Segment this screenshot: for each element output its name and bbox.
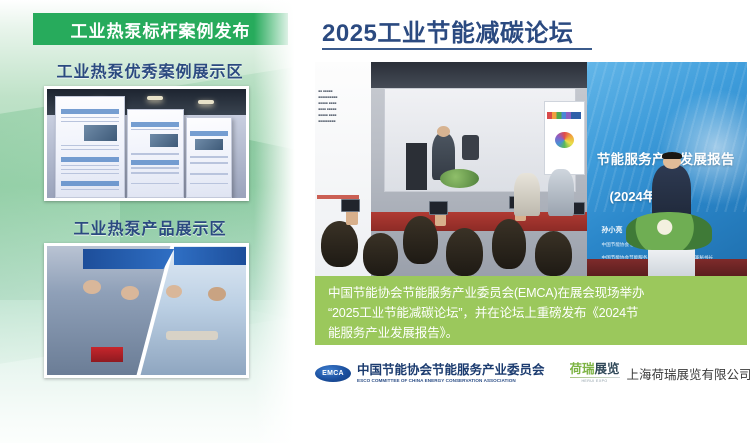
poster-color-bars [547,112,581,119]
emca-oval-icon: EMCA [315,365,351,382]
smartphone-icon [429,201,448,215]
seated-attendee [514,173,540,216]
footer-logos: EMCA 中国节能协会节能服务产业委员会 ESCO COMMITTEE OF C… [315,356,747,390]
podium-stand [648,246,696,276]
audience-head [363,233,397,276]
page-title: 2025工业节能减碳论坛 [322,13,573,48]
booth-red-signage [91,347,123,362]
right-panel: 2025工业节能减碳论坛 ■■ ■■■■■■■■■■■■■■■■■■■■ ■■■… [300,0,750,443]
herui-mark-block: 荷瑞展览 HERUI EXPO [570,362,620,384]
smartphone-icon [341,199,360,212]
audience-head [535,231,572,276]
audience-head [403,216,437,264]
audience-head [321,221,358,267]
left-panel-fade [254,0,300,443]
slide-canvas: 工业热泵标杆案例发布 工业热泵优秀案例展示区 [0,0,750,443]
herui-company-name: 上海荷瑞展览有限公司 [627,364,750,383]
emca-chinese-name: 中国节能协会节能服务产业委员会 [357,363,545,377]
herui-logo: 荷瑞展览 HERUI EXPO 上海荷瑞展览有限公司 [570,362,750,384]
visitor-head [83,280,101,294]
exhibition-poster-boards-photo [44,86,249,201]
poster-photo-inner [47,89,246,198]
emca-logo-text-block: 中国节能协会节能服务产业委员会 ESCO COMMITTEE OF CHINA … [357,363,545,384]
booth-banner [83,249,175,270]
booth-banner [174,247,246,265]
audience-head [446,228,483,276]
poster-board [55,96,125,198]
exhibition-booth-visitors-photo [44,243,249,378]
caption-box: 中国节能协会节能服务产业委员会(EMCA)在展会现场举办 “2025工业节能减碳… [315,276,747,345]
emca-english-name: ESCO COMMITTEE OF CHINA ENERGY CONSERVAT… [357,377,545,384]
slide-speaker-name: 孙小亮 [602,225,623,235]
poster-board [186,117,232,197]
green-banner-label: 工业热泵标杆案例发布 [71,17,251,42]
ceiling-lamp-icon [198,100,214,104]
presenter-head [437,126,450,137]
emca-logo: EMCA 中国节能协会节能服务产业委员会 ESCO COMMITTEE OF C… [315,363,545,384]
visitor-head [166,285,182,298]
stage-equipment [462,135,479,161]
podium-speaker-hair [662,152,682,159]
title-underline [322,48,592,50]
side-panel-text: ■■ ■■■■■■■■■■■■■■■■■■■■ ■■■■■■■■ ■■■■■■■… [318,88,370,124]
herui-mark-sublabel: HERUI EXPO [570,378,620,384]
seated-attendee [548,169,574,216]
emca-mark-label: EMCA [322,370,344,377]
raised-hand [435,213,446,227]
booth-photo-inner [47,246,246,375]
caption-text: 中国节能协会节能服务产业委员会(EMCA)在展会现场举办 “2025工业节能减碳… [328,283,736,343]
forum-audience-photo: ■■ ■■■■■■■■■■■■■■■■■■■■ ■■■■■■■■ ■■■■■■■… [315,62,747,276]
poster-color-wheel [555,132,574,148]
event-poster [544,101,585,176]
meeting-table [166,331,218,340]
podium-flower-bouquet [626,212,712,251]
poster-board [127,109,185,198]
ceiling-lamp-icon [147,96,163,100]
left-panel: 工业热泵标杆案例发布 工业热泵优秀案例展示区 [0,0,300,443]
herui-mark-label: 荷瑞展览 [570,362,620,376]
green-banner: 工业热泵标杆案例发布 [33,13,288,45]
ceiling-truss [371,62,587,88]
pa-speaker [406,143,428,190]
audience-head [492,219,526,269]
visitor-head [121,286,139,300]
